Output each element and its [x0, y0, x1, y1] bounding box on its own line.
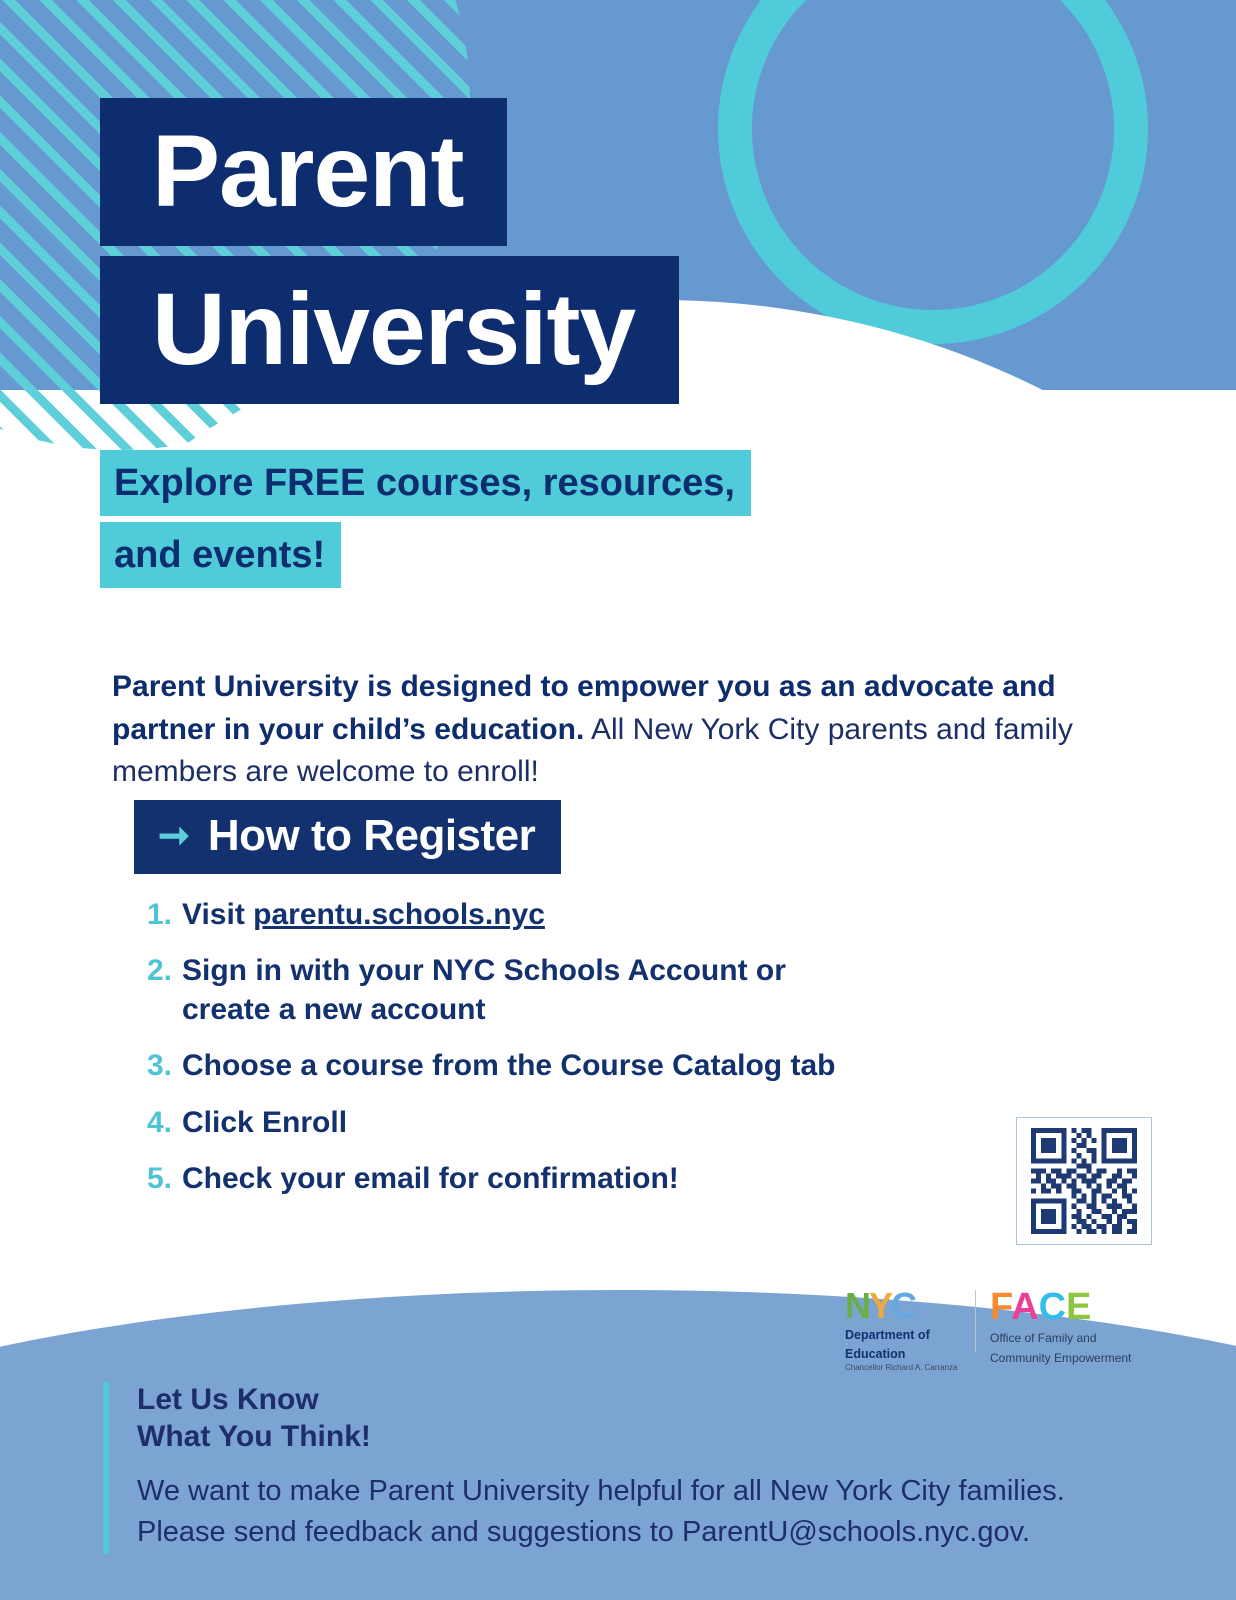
feedback-body-line-1: We want to make Parent University helpfu… [137, 1471, 1163, 1512]
feedback-body-line-2: Please send feedback and suggestions to … [137, 1512, 1163, 1553]
feedback-section: Let Us Know What You Think! We want to m… [103, 1382, 1163, 1554]
list-item: 5. Check your email for confirmation! [138, 1160, 1038, 1198]
subtitle: Explore FREE courses, resources, and eve… [100, 450, 1100, 594]
parentu-link[interactable]: parentu.schools.nyc [253, 898, 545, 931]
subtitle-line-1: Explore FREE courses, resources, [100, 450, 751, 516]
subtitle-line-2: and events! [100, 522, 341, 588]
list-item: 2. Sign in with your NYC Schools Account… [138, 952, 1038, 1029]
nyc-wordmark: NYC [845, 1288, 961, 1324]
how-to-register-label: How to Register [208, 814, 535, 858]
step-text: Sign in with your NYC Schools Account or… [182, 952, 802, 1029]
step-text: Click Enroll [182, 1104, 347, 1142]
title-line-1: Parent [100, 98, 507, 246]
step-number: 1. [138, 896, 182, 934]
step-text: Choose a course from the Course Catalog … [182, 1047, 835, 1085]
face-logo: FACE Office of Family and Community Empo… [990, 1288, 1150, 1365]
logo-divider [975, 1290, 976, 1352]
list-item: 3. Choose a course from the Course Catal… [138, 1047, 1038, 1085]
nyc-sub-line-1: Department of [845, 1328, 961, 1343]
step-number: 3. [138, 1047, 182, 1085]
title-line-2: University [100, 256, 679, 404]
list-item: 4. Click Enroll [138, 1104, 1038, 1142]
intro-paragraph: Parent University is designed to empower… [112, 666, 1142, 794]
face-letter-f: F [990, 1286, 1011, 1328]
register-steps-list: 1. Visit parentu.schools.nyc 2. Sign in … [138, 896, 1038, 1216]
logo-group: NYC Department of Education Chancellor R… [845, 1288, 1150, 1373]
face-wordmark: FACE [990, 1288, 1150, 1326]
step-number: 5. [138, 1160, 182, 1198]
face-letter-c: C [1039, 1286, 1066, 1328]
nyc-letter-y: Y [869, 1285, 891, 1326]
face-letter-e: E [1066, 1286, 1091, 1328]
face-sub-line-1: Office of Family and [990, 1331, 1150, 1346]
qr-code-icon[interactable] [1016, 1117, 1152, 1245]
nyc-letter-n: N [845, 1285, 869, 1326]
feedback-title: Let Us Know What You Think! [137, 1382, 1163, 1455]
arrow-right-icon: ➞ [158, 817, 190, 855]
list-item: 1. Visit parentu.schools.nyc [138, 896, 1038, 934]
nyc-letter-c: C [891, 1285, 915, 1326]
qr-code-svg [1027, 1128, 1141, 1234]
nyc-doe-logo: NYC Department of Education Chancellor R… [845, 1288, 961, 1373]
step-number: 2. [138, 952, 182, 990]
nyc-chancellor-line: Chancellor Richard A. Carranza [845, 1363, 961, 1373]
how-to-register-banner: ➞ How to Register [134, 800, 561, 874]
feedback-title-line-1: Let Us Know [137, 1382, 1163, 1419]
feedback-title-line-2: What You Think! [137, 1419, 1163, 1456]
face-letter-a: A [1011, 1286, 1038, 1328]
step-text-lead: Visit [182, 898, 253, 931]
feedback-body: We want to make Parent University helpfu… [137, 1471, 1163, 1553]
nyc-sub-line-2: Education [845, 1347, 961, 1362]
step-text: Visit parentu.schools.nyc [182, 896, 545, 934]
step-number: 4. [138, 1104, 182, 1142]
poster-root: Parent University Explore FREE courses, … [0, 0, 1236, 1600]
step-text: Check your email for confirmation! [182, 1160, 679, 1198]
face-sub-line-2: Community Empowerment [990, 1351, 1150, 1366]
